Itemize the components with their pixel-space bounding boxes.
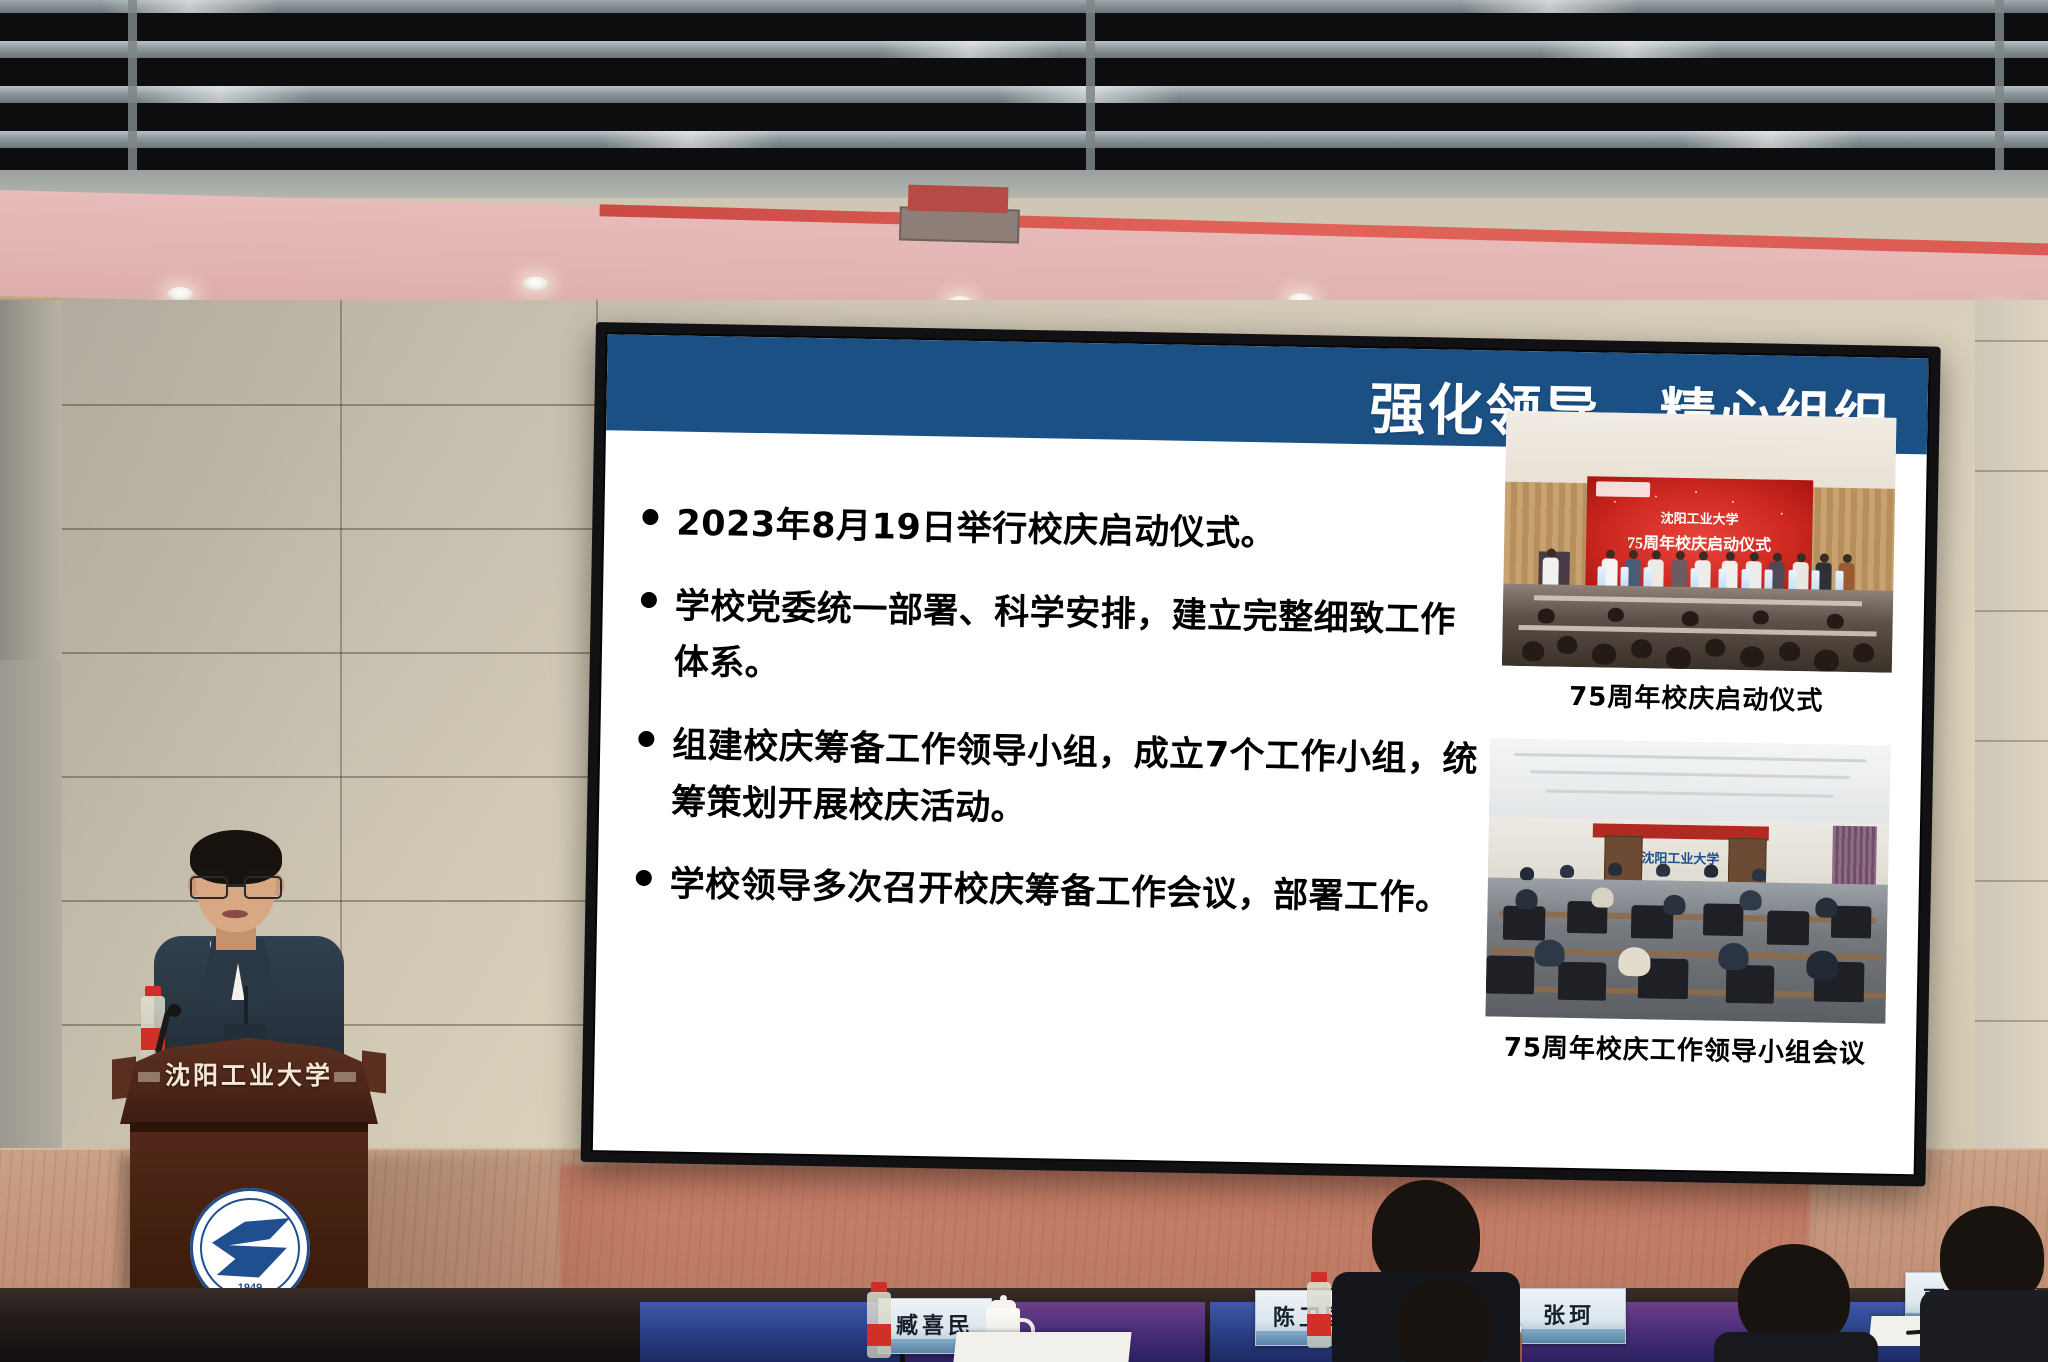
left-wall-column-lower (0, 660, 62, 1230)
ceiling-vent-red (908, 185, 1009, 214)
list-item: 学校党委统一部署、科学安排，建立完整细致工作体系。 (639, 578, 1491, 707)
slide-bullet-list: 2023年8月19日举行校庆启动仪式。 学校党委统一部署、科学安排，建立完整细致… (635, 495, 1493, 955)
bullet-text: 2023年8月19日举行校庆启动仪式。 (676, 496, 1277, 564)
list-item: 学校领导多次召开校庆筹备工作会议，部署工作。 (635, 856, 1486, 928)
slide-photo-caption-2: 75周年校庆工作领导小组会议 (1455, 1026, 1916, 1071)
ceiling-slat (0, 86, 2048, 103)
ceiling-slat-panel (0, 0, 2048, 178)
microphone-icon (168, 1004, 181, 1017)
red-cove-light (600, 204, 2048, 258)
bullet-text: 组建校庆筹备工作领导小组，成立7个工作小组，统筹策划开展校庆活动。 (671, 718, 1489, 846)
list-item: 组建校庆筹备工作领导小组，成立7个工作小组，统筹策划开展校庆活动。 (637, 717, 1489, 846)
attendee-person (1370, 1278, 1520, 1362)
attendee-person (1930, 1206, 2048, 1362)
ceiling-slat (0, 41, 2048, 58)
bullet-dot-icon (638, 731, 654, 747)
name-card-text: 张珂 (1513, 1298, 1625, 1330)
bullet-dot-icon (636, 870, 652, 886)
downlight (522, 276, 548, 291)
glasses-icon (190, 876, 282, 896)
water-bottle (1306, 1272, 1332, 1348)
floor-red-reflection (560, 1165, 1810, 1290)
slide-photo-leadership-meeting: 沈阳工业大学 (1485, 738, 1890, 1023)
slide-photo-launch-ceremony: 沈阳工业大学 75周年校庆启动仪式 (1502, 411, 1897, 673)
lectern: 沈阳工业大学 1949 (112, 1030, 386, 1330)
list-item: 2023年8月19日举行校庆启动仪式。 (642, 495, 1493, 567)
water-bottle (866, 1282, 892, 1358)
attendee-person (1720, 1244, 1870, 1362)
lectern-university-name: 沈阳工业大学 (120, 1056, 378, 1092)
bullet-dot-icon (642, 509, 658, 525)
bullet-text: 学校党委统一部署、科学安排，建立完整细致工作体系。 (673, 578, 1491, 706)
document-papers (953, 1332, 1131, 1362)
bullet-dot-icon (641, 592, 657, 608)
slide-photo-caption-1: 75周年校庆启动仪式 (1501, 675, 1892, 719)
presentation-slide: 强化领导 精心组织 2023年8月19日举行校庆启动仪式。 学校党委统一部署、科… (593, 334, 1929, 1174)
ceiling-lip (0, 170, 2048, 198)
right-wall-panels (1975, 300, 2048, 1230)
ceiling-slat (0, 0, 2048, 13)
ceiling-slat (0, 131, 2048, 148)
name-card: 张珂 (1512, 1288, 1626, 1344)
bullet-text: 学校领导多次召开校庆筹备工作会议，部署工作。 (669, 857, 1451, 928)
projection-screen[interactable]: 强化领导 精心组织 2023年8月19日举行校庆启动仪式。 学校党委统一部署、科… (581, 322, 1941, 1187)
led-banner-line1: 沈阳工业大学 (1586, 506, 1812, 529)
screenshot-root: 强化领导 精心组织 2023年8月19日举行校庆启动仪式。 学校党委统一部署、科… (0, 0, 2048, 1362)
